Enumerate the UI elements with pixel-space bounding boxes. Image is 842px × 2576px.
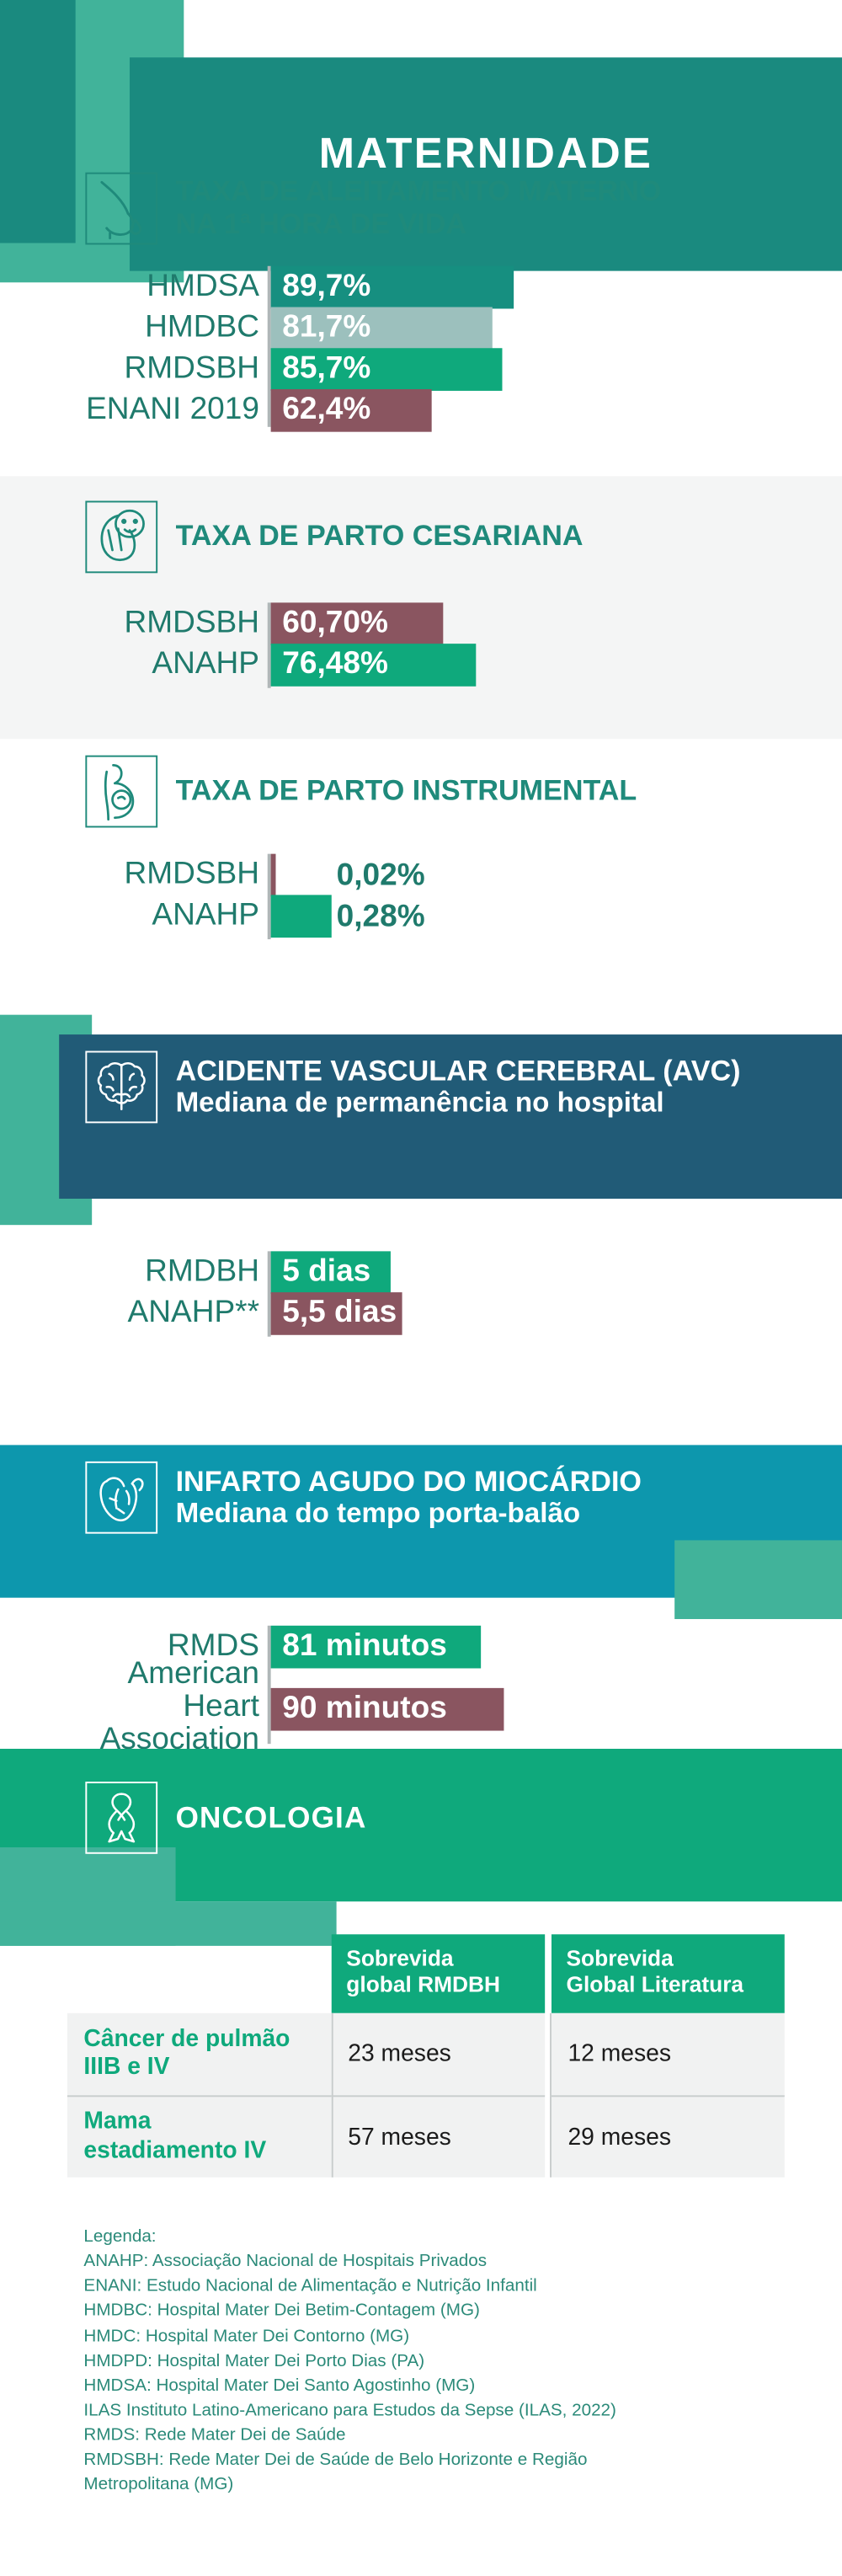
table-row1-literatura: 12 meses <box>552 2013 785 2095</box>
section-avc-header: ACIDENTE VASCULAR CEREBRAL (AVC) Mediana… <box>85 1051 740 1124</box>
bar-value-rmdsbh: 0,02% <box>337 858 425 895</box>
bar-label-anahp: ANAHP <box>66 900 259 933</box>
chart-axis <box>268 602 270 687</box>
chart-axis <box>268 1626 270 1744</box>
bar-label-hmdbc: HMDBC <box>66 312 259 345</box>
legend-ilas: ILAS Instituto Latino-Americano para Est… <box>83 2399 822 2424</box>
table-header-col3-line2: Global Literatura <box>567 1972 744 1996</box>
section-instrumental-header: TAXA DE PARTO INSTRUMENTAL <box>85 756 637 828</box>
bar-rmdbh: 5 dias <box>271 1251 391 1294</box>
chart-aleitamento: HMDSA 89,7% HMDBC 81,7% RMDSBH 85,7% ENA… <box>0 263 842 436</box>
bar-value-hmdsa: 89,7% <box>271 270 371 306</box>
chart-axis <box>268 854 270 939</box>
table-header-col3-line1: Sobrevida <box>567 1946 674 1970</box>
bar-label-enani: ENANI 2019 <box>33 394 259 427</box>
table-header-col2-line2: global RMDBH <box>346 1972 500 1996</box>
bar-hmdbc: 81,7% <box>271 307 493 350</box>
legend-enani: ENANI: Estudo Nacional de Alimentação e … <box>83 2274 822 2300</box>
table-row2-rmdbh: 57 meses <box>332 2095 545 2177</box>
chart-avc: RMDBH 5 dias ANAHP** 5,5 dias <box>0 1248 842 1343</box>
bar-label-anahp: ANAHP <box>66 649 259 681</box>
section-oncologia-header: ONCOLOGIA <box>85 1782 366 1854</box>
section-cesariana-header: TAXA DE PARTO CESARIANA <box>85 501 583 574</box>
bar-label-rmdsbh: RMDSBH <box>66 353 259 386</box>
chart-axis <box>268 1251 270 1336</box>
legend: Legenda: ANAHP: Associação Nacional de H… <box>83 2225 822 2499</box>
infographic-canvas: MATERNIDADE TAXA DE ALEITAMENTO MATERNO … <box>0 0 842 2576</box>
bar-value-rmdbh: 5 dias <box>271 1254 371 1291</box>
legend-anahp: ANAHP: Associação Nacional de Hospitais … <box>83 2250 822 2275</box>
bar-label-rmdbh: RMDBH <box>66 1256 259 1289</box>
table-row2-label-line2: estadiamento IV <box>83 2137 266 2163</box>
legend-title: Legenda: <box>83 2225 822 2250</box>
chart-instrumental: RMDSBH 0,02% ANAHP 0,28% <box>0 851 842 946</box>
bar-value-rmds: 81 minutos <box>271 1629 447 1665</box>
chart-axis <box>268 266 270 427</box>
legend-rmds: RMDS: Rede Mater Dei de Saúde <box>83 2424 822 2449</box>
bar-value-anahp: 76,48% <box>271 647 388 683</box>
awareness-ribbon-icon <box>85 1782 157 1854</box>
section-infarto-title-line1: INFARTO AGUDO DO MIOCÁRDIO <box>176 1464 642 1497</box>
bar-value-anahp: 0,28% <box>337 900 425 936</box>
bar-label-anahp: ANAHP** <box>49 1297 259 1330</box>
bar-aha: 90 minutos <box>271 1688 504 1731</box>
breastfeeding-icon <box>85 173 157 245</box>
page-title: MATERNIDADE <box>130 128 842 179</box>
legend-hmdsa: HMDSA: Hospital Mater Dei Santo Agostinh… <box>83 2374 822 2399</box>
bar-value-aha: 90 minutos <box>271 1692 447 1728</box>
section-avc-title-line2: Mediana de permanência no hospital <box>176 1088 741 1119</box>
table-row1-rmdbh: 23 meses <box>332 2013 545 2095</box>
bar-rmds: 81 minutos <box>271 1626 482 1669</box>
table-header-sobrevida-literatura: Sobrevida Global Literatura <box>552 1934 785 2013</box>
section-aleitamento-header: TAXA DE ALEITAMENTO MATERNO NA 1ª HORA D… <box>85 173 661 245</box>
infarto-deco-light <box>674 1540 842 1619</box>
pregnant-belly-icon <box>85 756 157 828</box>
chart-infarto: RMDS 81 minutos American Heart Associati… <box>0 1622 842 1754</box>
table-divider <box>550 2013 552 2178</box>
bar-anahp: 5,5 dias <box>271 1292 402 1335</box>
bar-anahp: 76,48% <box>271 644 477 687</box>
chart-cesariana: RMDSBH 60,70% ANAHP 76,48% <box>0 599 842 694</box>
bar-value-rmdsbh: 60,70% <box>271 606 388 642</box>
legend-hmdc: HMDC: Hospital Mater Dei Contorno (MG) <box>83 2324 822 2349</box>
bar-rmdsbh <box>271 854 276 897</box>
bar-hmdsa: 89,7% <box>271 266 514 309</box>
table-row1-label-line1: Câncer de pulmão <box>83 2026 290 2052</box>
section-avc-title-line1: ACIDENTE VASCULAR CEREBRAL (AVC) <box>176 1054 741 1087</box>
swaddled-baby-icon <box>85 501 157 574</box>
bar-label-rmdsbh: RMDSBH <box>66 858 259 891</box>
bar-value-hmdbc: 81,7% <box>271 310 371 346</box>
section-infarto-header: INFARTO AGUDO DO MIOCÁRDIO Mediana do te… <box>85 1462 642 1534</box>
bar-value-anahp: 5,5 dias <box>271 1296 397 1332</box>
table-row2-label-line1: Mama <box>83 2108 151 2135</box>
bar-label-aha: American Heart Association <box>33 1659 259 1757</box>
header-deco-dark <box>0 0 76 243</box>
bar-enani: 62,4% <box>271 389 432 432</box>
section-aleitamento-title-line1: TAXA DE ALEITAMENTO MATERNO <box>176 174 662 207</box>
table-header-sobrevida-rmdbh: Sobrevida global RMDBH <box>332 1934 545 2013</box>
table-header-col2-line1: Sobrevida <box>346 1946 453 1970</box>
bar-value-rmdsbh: 85,7% <box>271 351 371 387</box>
table-row1-label-line2: IIIB e IV <box>83 2055 169 2081</box>
legend-hmdbc: HMDBC: Hospital Mater Dei Betim-Contagem… <box>83 2300 822 2325</box>
legend-rmdsbh: RMDSBH: Rede Mater Dei de Saúde de Belo … <box>83 2449 822 2474</box>
bar-rmdsbh: 85,7% <box>271 348 503 391</box>
legend-rmdsbh-cont: Metropolitana (MG) <box>83 2473 822 2499</box>
heart-icon <box>85 1462 157 1534</box>
table-divider <box>332 2013 333 2178</box>
section-cesariana-title: TAXA DE PARTO CESARIANA <box>176 519 584 552</box>
section-infarto-title-line2: Mediana do tempo porta-balão <box>176 1498 642 1529</box>
oncology-table: Sobrevida global RMDBH Sobrevida Global … <box>0 1934 842 2177</box>
section-oncologia-title: ONCOLOGIA <box>176 1801 367 1834</box>
brain-icon <box>85 1051 157 1124</box>
bar-rmdsbh: 60,70% <box>271 602 444 645</box>
bar-value-enani: 62,4% <box>271 393 371 429</box>
bar-label-rmdsbh: RMDSBH <box>66 607 259 640</box>
table-row: Câncer de pulmão IIIB e IV <box>67 2013 332 2095</box>
table-row: Mama estadiamento IV <box>67 2095 332 2177</box>
section-aleitamento-title-line2: NA 1ª HORA DE VIDA <box>176 207 467 240</box>
bar-anahp <box>271 895 332 938</box>
legend-hmdpd: HMDPD: Hospital Mater Dei Porto Dias (PA… <box>83 2349 822 2375</box>
section-instrumental-title: TAXA DE PARTO INSTRUMENTAL <box>176 774 637 807</box>
bar-label-hmdsa: HMDSA <box>66 271 259 304</box>
table-row2-literatura: 29 meses <box>552 2095 785 2177</box>
